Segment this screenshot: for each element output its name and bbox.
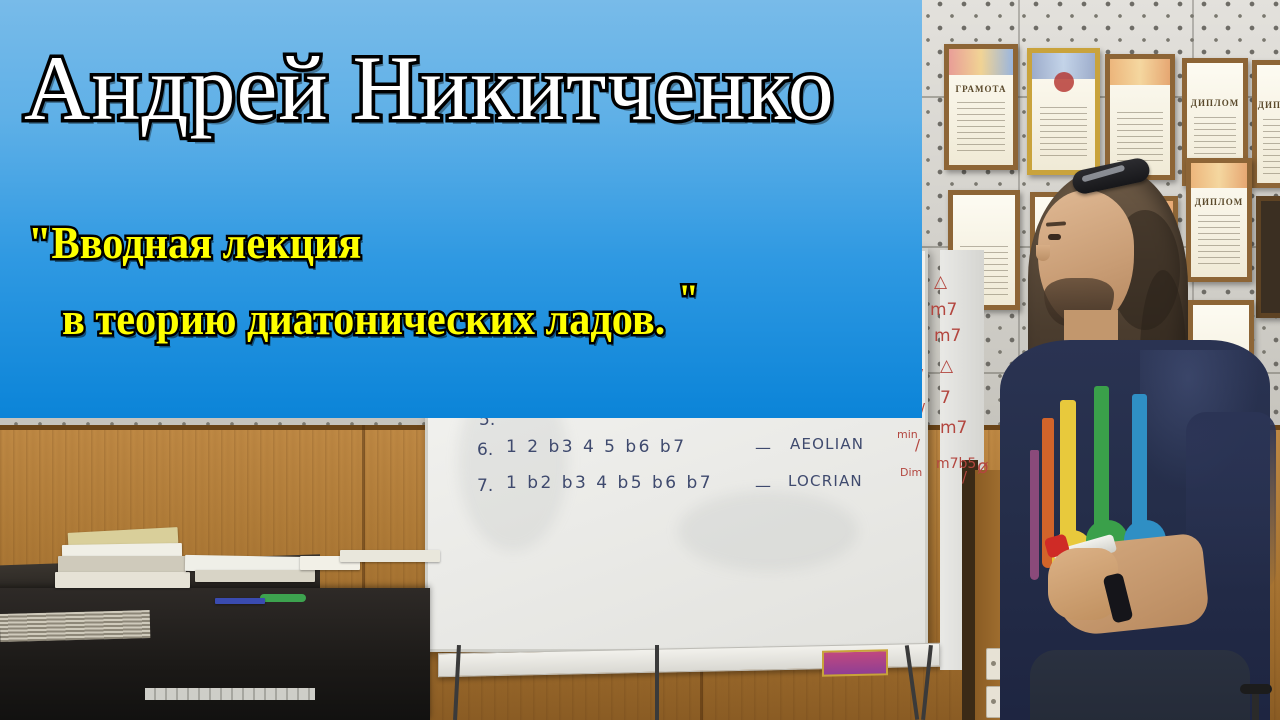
board-item-formula: 1 b2 b3 4 b5 b6 b7 (506, 473, 713, 493)
board-item-number: 7. (477, 476, 493, 496)
certificate-band (1110, 59, 1170, 85)
subtitle-line-1: "Вводная лекция (28, 214, 847, 273)
paper-stack (55, 572, 190, 588)
title-card-stage: ГРАМОТА ДИПЛОМ ДИПЛОМ (0, 0, 1280, 720)
chord-separator: / (915, 436, 920, 454)
certificate-word: ГРАМОТА (949, 84, 1013, 94)
board-item-mode: AEOLIAN (790, 435, 864, 453)
chord-symbol: △ (940, 356, 953, 376)
paper-stack (340, 550, 440, 562)
board-item-dash: — (755, 438, 771, 457)
jeans (1030, 650, 1250, 720)
green-tape-roll (260, 594, 306, 602)
stand-leg (655, 645, 659, 720)
board-smudge (678, 491, 858, 571)
certificate-band (949, 49, 1013, 75)
guitar-print-purple (1030, 450, 1039, 580)
title-overlay-panel: Андрей Никитченко "Вводная лекция в теор… (0, 0, 922, 418)
microphone-stand (1252, 690, 1259, 720)
lecturer (990, 150, 1280, 720)
chord-symbol: △ (934, 272, 947, 292)
subtitle-block: "Вводная лекция в теорию диатонических л… (28, 214, 918, 349)
subtitle-line-2: в теорию диатонических ладов." (62, 273, 850, 349)
certificate-paper: ГРАМОТА (949, 49, 1013, 165)
closing-quote: " (678, 276, 698, 321)
chord-symbol: ø (977, 456, 989, 478)
board-item-quality: Dim (900, 466, 922, 479)
stand-leg (905, 645, 919, 720)
stand-leg (453, 645, 461, 720)
chord-separator: / (962, 468, 967, 486)
lens-highlight (1081, 165, 1125, 183)
paper-pile-left (0, 610, 150, 642)
microphone (1240, 684, 1272, 694)
eye (1048, 234, 1061, 240)
nose (1036, 245, 1050, 261)
chord-symbol: m7 (934, 326, 961, 346)
board-item-dash: — (755, 476, 771, 495)
blue-marker (215, 598, 265, 604)
piano-desk (0, 588, 430, 720)
chord-symbol: m7b5 (936, 456, 976, 472)
board-item-formula: 1 2 b3 4 5 b6 b7 (506, 437, 687, 457)
certificate-word: ДИПЛОМ (1187, 98, 1243, 108)
page-title: Андрей Никитченко (24, 42, 904, 134)
chord-symbol: m7 (930, 300, 957, 320)
whiteboard-stand (455, 645, 925, 720)
certificate-seal (1054, 72, 1074, 92)
chord-symbol: 7 (940, 388, 951, 408)
board-item-number: 6. (477, 440, 493, 460)
certificate-text-lines (957, 102, 1006, 155)
subtitle-line-2-text: в теорию диатонических ладов. (62, 293, 665, 344)
certificate-word: ДИПЛОМ (1257, 100, 1280, 110)
piano-keys (145, 688, 315, 700)
board-item-mode: LOCRIAN (788, 472, 863, 490)
chord-symbol: m7 (940, 418, 967, 438)
paper-stack (195, 570, 315, 582)
